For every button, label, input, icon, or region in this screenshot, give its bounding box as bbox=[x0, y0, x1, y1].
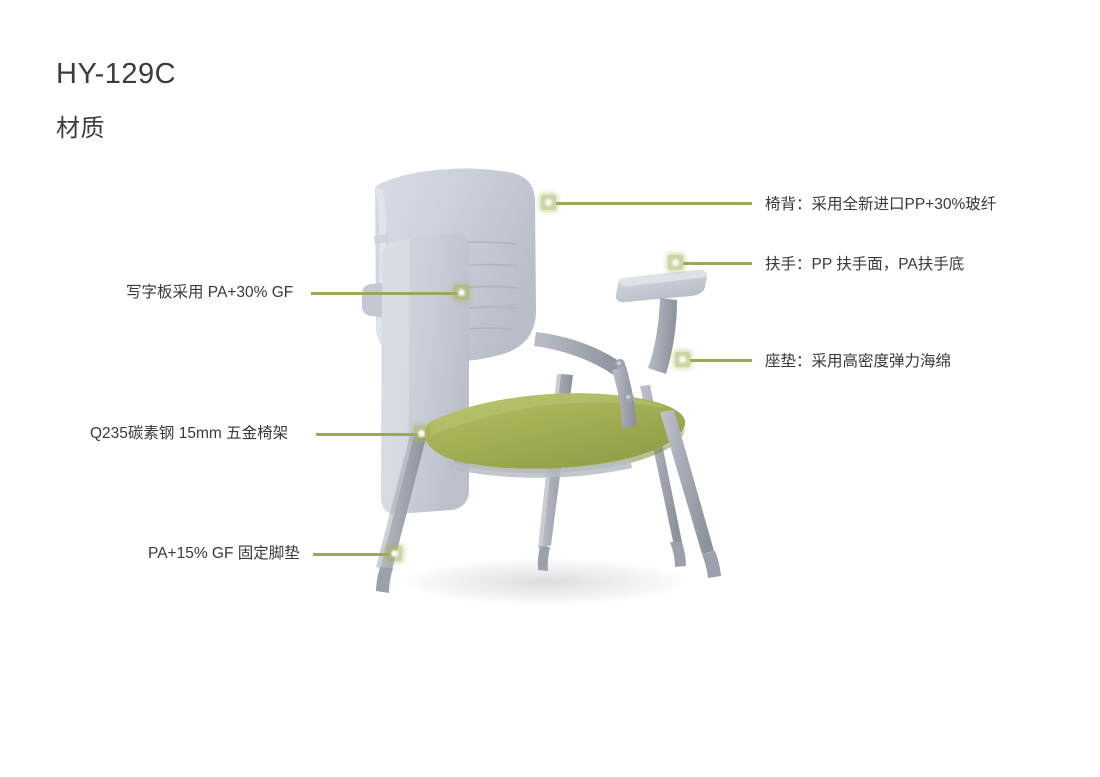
section-title: 材质 bbox=[56, 108, 105, 143]
callout-marker-writing-tablet[interactable] bbox=[454, 285, 469, 300]
leader-line-writing-tablet bbox=[311, 292, 458, 295]
callout-marker-armrest[interactable] bbox=[668, 255, 683, 270]
callout-label-steel-frame: Q235碳素钢 15mm 五金椅架 bbox=[90, 424, 288, 444]
callout-label-foot-glide: PA+15% GF 固定脚垫 bbox=[148, 544, 300, 564]
page-title: HY-129C bbox=[56, 58, 176, 91]
tablet-hinge bbox=[362, 283, 382, 317]
armrest-post bbox=[648, 298, 677, 374]
rear-foot-glide-right bbox=[670, 542, 686, 567]
leader-line-armrest bbox=[683, 262, 752, 265]
callout-marker-foot-glide[interactable] bbox=[387, 546, 402, 561]
callout-marker-backrest[interactable] bbox=[541, 195, 556, 210]
front-foot-glide-right bbox=[702, 551, 721, 578]
leader-line-foot-glide bbox=[313, 553, 391, 556]
callout-label-writing-tablet: 写字板采用 PA+30% GF bbox=[126, 283, 293, 303]
callout-marker-steel-frame[interactable] bbox=[414, 426, 429, 441]
callout-label-armrest: 扶手：PP 扶手面，PA扶手底 bbox=[765, 255, 964, 275]
product-spec-page: HY-129C 材质 bbox=[0, 0, 1100, 777]
leader-line-backrest bbox=[556, 202, 752, 205]
callout-label-seat-cushion: 座垫：采用高密度弹力海绵 bbox=[765, 352, 951, 372]
leader-line-steel-frame bbox=[316, 433, 419, 436]
callout-marker-seat-cushion[interactable] bbox=[675, 352, 690, 367]
leader-line-seat-cushion bbox=[690, 359, 752, 362]
callout-label-backrest: 椅背：采用全新进口PP+30%玻纤 bbox=[765, 195, 996, 215]
